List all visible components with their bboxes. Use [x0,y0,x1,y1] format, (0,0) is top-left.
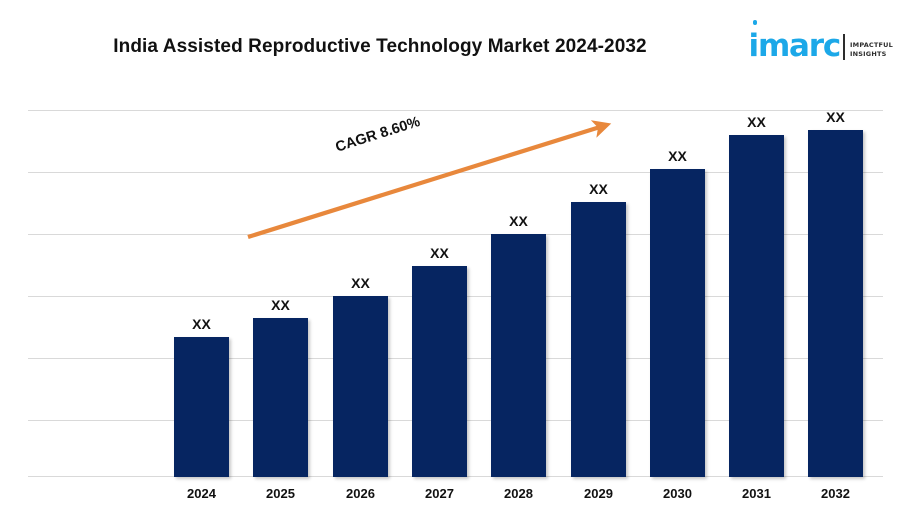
x-axis-label-2027: 2027 [406,486,473,501]
x-axis-label-2025: 2025 [247,486,314,501]
x-axis-label-2031: 2031 [723,486,790,501]
x-axis-label-2028: 2028 [485,486,552,501]
x-axis-label-2024: 2024 [168,486,235,501]
bar-2030[interactable] [650,169,705,477]
bar-2024[interactable] [174,337,229,477]
x-axis-label-2030: 2030 [644,486,711,501]
bar-2028[interactable] [491,234,546,477]
bar-2029[interactable] [571,202,626,477]
x-axis-label-2032: 2032 [802,486,869,501]
bar-value-label-2024: XX [174,316,229,332]
bar-value-label-2029: XX [571,181,626,197]
bar-value-label-2027: XX [412,245,467,261]
bar-value-label-2030: XX [650,148,705,164]
bar-value-label-2031: XX [729,114,784,130]
x-axis-label-2026: 2026 [327,486,394,501]
bar-value-label-2028: XX [491,213,546,229]
x-axis-label-2029: 2029 [565,486,632,501]
bar-2025[interactable] [253,318,308,477]
bar-value-label-2025: XX [253,297,308,313]
bar-2032[interactable] [808,130,863,477]
bars-layer: XX2024XX2025XX2026XX2027XX2028XX2029XX20… [0,0,911,513]
bar-2031[interactable] [729,135,784,477]
bar-value-label-2032: XX [808,109,863,125]
bar-2026[interactable] [333,296,388,477]
bar-value-label-2026: XX [333,275,388,291]
bar-2027[interactable] [412,266,467,477]
